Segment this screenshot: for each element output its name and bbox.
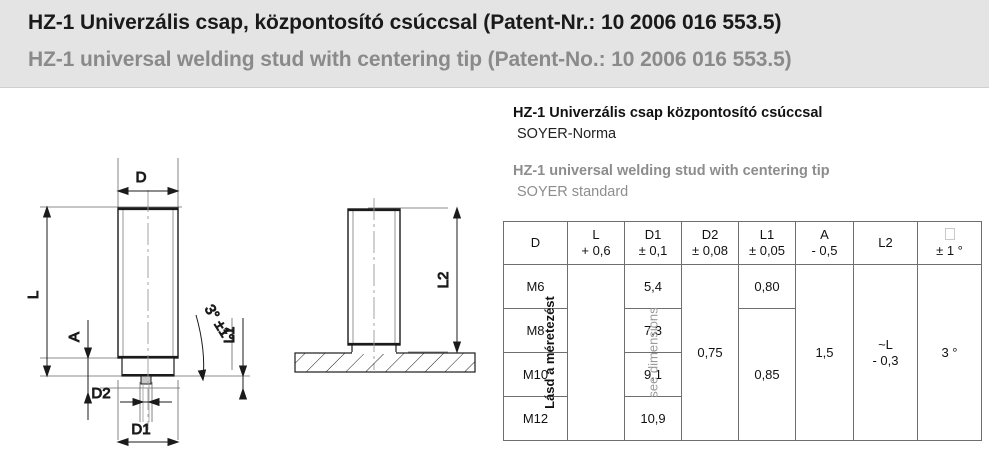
header-band: HZ-1 Univerzális csap, központosító csúc…: [0, 0, 989, 88]
dim-label-d: D: [136, 169, 147, 186]
square-symbol-icon: [918, 227, 981, 243]
dim-label-angle: 3° ±1°: [201, 302, 237, 346]
column-header-l-tolerance: + 0,6: [568, 243, 624, 259]
cell-d-m8: M8: [504, 309, 568, 353]
product-title-en: HZ-1 universal welding stud with centeri…: [513, 163, 830, 179]
dim-label-d2: D2: [91, 385, 110, 402]
column-header-d: D: [504, 222, 568, 265]
dim-label-d1: D1: [131, 421, 150, 438]
table-row: M6 Lásd a méretezést see dimensions 5,4 …: [504, 265, 982, 309]
cell-d-m6: M6: [504, 265, 568, 309]
dim-label-l: L: [25, 291, 42, 299]
cell-angle: 3 °: [918, 265, 982, 441]
cell-d-m12: M12: [504, 397, 568, 441]
cell-a: 1,5: [796, 265, 854, 441]
column-header-d2: D2 ± 0,08: [682, 222, 739, 265]
page-title-en: HZ-1 universal welding stud with centeri…: [28, 48, 792, 72]
page-root: HZ-1 Univerzális csap, központosító csúc…: [0, 0, 989, 456]
column-header-l2: L2: [854, 222, 918, 265]
base-plate-hatched: [295, 353, 475, 372]
column-header-a: A - 0,5: [796, 222, 854, 265]
column-header-l-label: L: [568, 227, 624, 243]
column-header-l1-tolerance: ± 0,05: [739, 243, 795, 259]
technical-drawing-welded-view: L2: [280, 180, 510, 390]
column-header-l1: L1 ± 0,05: [739, 222, 796, 265]
column-header-d-label: D: [504, 235, 567, 251]
cell-l-note-en: see dimensions: [647, 307, 660, 397]
column-header-d2-tolerance: ± 0,08: [682, 243, 738, 259]
product-title-hu: HZ-1 Univerzális csap központosító csúcc…: [513, 105, 822, 121]
cell-l2: ~L - 0,3: [854, 265, 918, 441]
product-standard-en: SOYER standard: [517, 184, 628, 200]
column-header-d2-label: D2: [682, 227, 738, 243]
cell-l1-rest: 0,85: [739, 309, 796, 441]
column-header-angle: ± 1 °: [918, 222, 982, 265]
product-standard-hu: SOYER-Norma: [517, 126, 616, 142]
cell-d1-m12: 10,9: [625, 397, 682, 441]
cell-d1-m6: 5,4: [625, 265, 682, 309]
page-title-hu: HZ-1 Univerzális csap, központosító csúc…: [28, 11, 781, 35]
cell-l1-first: 0,80: [739, 265, 796, 309]
cell-d-m10: M10: [504, 353, 568, 397]
cell-l2-bottom: - 0,3: [854, 353, 917, 369]
cell-l-note: Lásd a méretezést see dimensions: [568, 265, 625, 441]
technical-drawing-front-view: D L A L1 3° ±1°: [0, 130, 280, 456]
dim-label-a: A: [66, 332, 83, 342]
column-header-a-label: A: [796, 227, 853, 243]
column-header-l: L + 0,6: [568, 222, 625, 265]
column-header-a-tolerance: - 0,5: [796, 243, 853, 259]
cell-d2: 0,75: [682, 265, 739, 441]
column-header-angle-tolerance: ± 1 °: [918, 243, 981, 259]
column-header-l2-label: L2: [854, 235, 917, 251]
specification-table: D L + 0,6 D1 ± 0,1 D2 ± 0,08 L1 ± 0,0: [503, 221, 982, 441]
column-header-d1: D1 ± 0,1: [625, 222, 682, 265]
column-header-d1-label: D1: [625, 227, 681, 243]
column-header-d1-tolerance: ± 0,1: [625, 243, 681, 259]
table-header-row: D L + 0,6 D1 ± 0,1 D2 ± 0,08 L1 ± 0,0: [504, 222, 982, 265]
dim-label-l2: L2: [435, 272, 452, 289]
cell-l-note-hu: Lásd a méretezést: [543, 296, 556, 409]
column-header-l1-label: L1: [739, 227, 795, 243]
cell-l2-top: ~L: [854, 337, 917, 353]
